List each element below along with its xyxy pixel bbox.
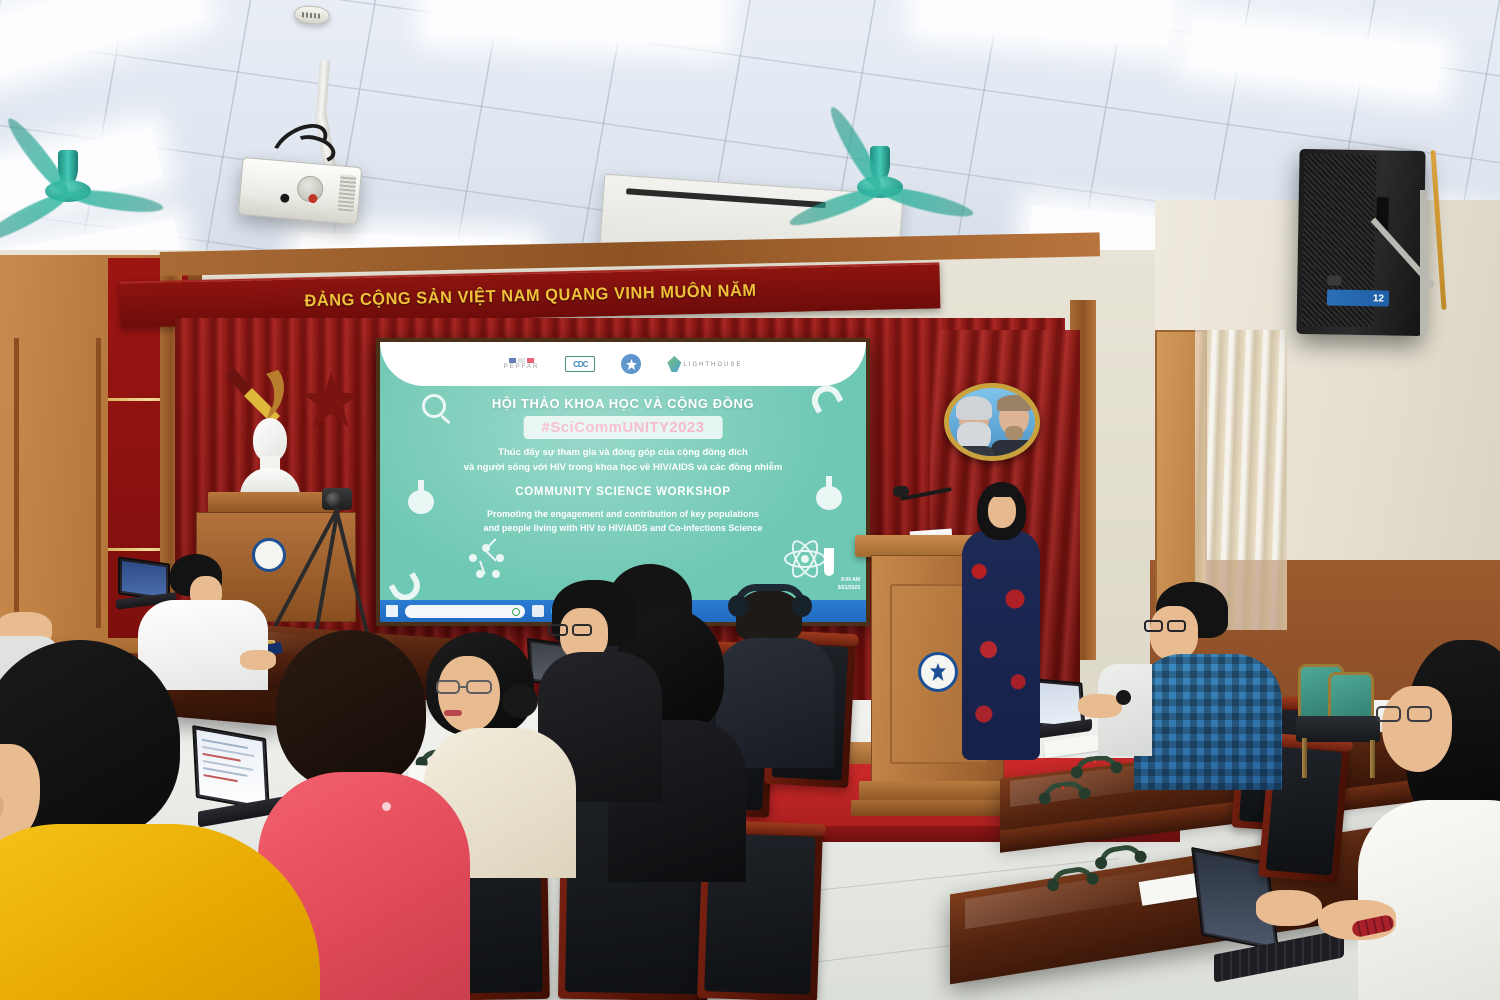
lenin-hair bbox=[997, 395, 1031, 411]
projector-vent bbox=[337, 174, 356, 211]
ac-vent bbox=[626, 188, 826, 208]
eyeglasses-icon bbox=[1376, 706, 1434, 722]
eyeglasses-icon bbox=[436, 680, 494, 694]
logo-cdc-label: CDC bbox=[573, 360, 587, 369]
flag-us bbox=[509, 358, 516, 363]
blouse-button bbox=[382, 802, 391, 811]
magnifier-icon bbox=[422, 394, 446, 418]
pepfar-flags bbox=[509, 358, 534, 363]
molecule-atom bbox=[492, 570, 500, 578]
banquet-chair-seat bbox=[1296, 716, 1380, 742]
podium-microphone bbox=[893, 486, 909, 497]
laptop-display bbox=[122, 561, 166, 597]
molecule-atom bbox=[482, 544, 490, 552]
flag-stripe bbox=[518, 358, 525, 363]
left-wall-trim bbox=[14, 338, 19, 628]
molecule-atom bbox=[496, 554, 504, 562]
face bbox=[438, 656, 500, 732]
slide-date: 9/21/2023 bbox=[838, 585, 860, 593]
mouth bbox=[444, 710, 462, 716]
logo-cdc: CDC bbox=[565, 356, 595, 372]
slide-time: 9:00 AM bbox=[838, 577, 860, 585]
left-wall-trim bbox=[96, 338, 101, 628]
institution-emblem bbox=[918, 652, 958, 692]
slide-hashtag: #SciCommUNITY2023 bbox=[524, 416, 723, 439]
speaker-wall-bracket bbox=[1420, 190, 1427, 335]
face bbox=[1150, 606, 1198, 660]
chat-icon[interactable] bbox=[532, 605, 544, 617]
slide-subtitle-en-line2: and people living with HIV to HIV/AIDS a… bbox=[404, 522, 841, 536]
doc-line bbox=[204, 774, 238, 782]
logo-lighthouse-label: LIGHTHOUSE bbox=[683, 362, 742, 368]
eyeglasses-icon bbox=[548, 624, 592, 636]
slide-subtitle-vi-line2: và người sống với HIV trong khoa học về … bbox=[409, 461, 837, 476]
banquet-chair-leg bbox=[1302, 738, 1307, 778]
logo-pepfar-label: PEPFAR bbox=[504, 364, 540, 370]
slide-subtitle-en-line1: Promoting the engagement and contributio… bbox=[404, 508, 841, 522]
logo-lighthouse: LIGHTHOUSE bbox=[667, 356, 742, 372]
left-podium-emblem bbox=[252, 538, 286, 572]
slide-subtitle-en: Promoting the engagement and contributio… bbox=[404, 508, 841, 536]
translation-headset-worn bbox=[734, 584, 806, 614]
conference-room-photo: ĐẢNG CỘNG SẢN VIỆT NAM QUANG VINH MUÔN N… bbox=[0, 0, 1500, 1000]
search-box[interactable] bbox=[405, 605, 525, 618]
laptop-screen bbox=[192, 725, 270, 811]
projector-plug-white bbox=[322, 197, 332, 207]
start-icon[interactable] bbox=[386, 605, 398, 617]
slide-timestamp: 9:00 AM 9/21/2023 bbox=[838, 577, 860, 592]
flask-icon bbox=[816, 476, 842, 510]
typing-hand-left bbox=[1256, 890, 1322, 926]
flag-vn bbox=[527, 358, 534, 363]
bust-plinth bbox=[208, 492, 334, 514]
headset-earcup bbox=[792, 595, 812, 617]
pa-speaker: 12 bbox=[1296, 149, 1425, 336]
projector-plug-red bbox=[308, 194, 318, 204]
speaker-logo-icon bbox=[1327, 275, 1341, 285]
speaker-brand-badge: 12 bbox=[1327, 289, 1389, 306]
podium-plinth bbox=[851, 800, 1024, 816]
atom-icon bbox=[784, 538, 826, 580]
logo-pepfar: PEPFAR bbox=[504, 358, 540, 370]
banner-text: ĐẢNG CỘNG SẢN VIỆT NAM QUANG VINH MUÔN N… bbox=[304, 281, 756, 312]
presenter-body bbox=[962, 530, 1040, 760]
presenter-fringe bbox=[986, 483, 1018, 497]
torso bbox=[1134, 654, 1282, 790]
flask-body bbox=[408, 490, 434, 514]
hand bbox=[240, 650, 276, 670]
molecule-icon bbox=[468, 540, 508, 578]
flask-body bbox=[816, 486, 842, 510]
molecule-atom bbox=[469, 554, 477, 562]
torso bbox=[1358, 800, 1500, 1000]
slide-logo-bar: PEPFAR CDC LIGHTHOUSE bbox=[380, 342, 866, 386]
presenter-face bbox=[988, 494, 1016, 528]
flask-icon bbox=[408, 480, 434, 514]
face bbox=[1382, 686, 1452, 772]
ceiling-projector bbox=[238, 157, 363, 225]
wrist-watch bbox=[1116, 690, 1131, 705]
hair-bun bbox=[502, 684, 538, 718]
ho-chi-minh-bust bbox=[240, 418, 300, 498]
slide-subtitle-vi-line1: Thúc đẩy sự tham gia và đóng góp của cộn… bbox=[409, 446, 837, 461]
headset-earcup bbox=[728, 595, 748, 617]
projector-plug-black bbox=[280, 193, 290, 203]
lenin-beard bbox=[1005, 426, 1023, 440]
camera-lens-icon bbox=[326, 492, 341, 507]
speaker-size-label: 12 bbox=[1373, 293, 1384, 304]
logo-vaac bbox=[621, 354, 641, 374]
slide-title-vi: HỘI THẢO KHOA HỌC VÀ CỘNG ĐỒNG bbox=[380, 396, 866, 411]
eyeglasses-icon bbox=[1144, 620, 1188, 632]
molecule-atom bbox=[476, 570, 484, 578]
laptop-display bbox=[196, 730, 265, 806]
marx-hair bbox=[956, 396, 992, 420]
hair bbox=[276, 630, 426, 790]
test-tube-icon bbox=[824, 548, 834, 576]
atom-nucleus bbox=[801, 555, 809, 563]
molecule-bond bbox=[485, 550, 496, 561]
lighthouse-mark bbox=[667, 356, 681, 372]
slide-subtitle-vi: Thúc đẩy sự tham gia và đóng góp của cộn… bbox=[409, 446, 837, 475]
marx-and-lenin-portrait bbox=[944, 383, 1040, 461]
banquet-chair-leg bbox=[1370, 740, 1375, 778]
slide-title-en: COMMUNITY SCIENCE WORKSHOP bbox=[380, 486, 866, 498]
